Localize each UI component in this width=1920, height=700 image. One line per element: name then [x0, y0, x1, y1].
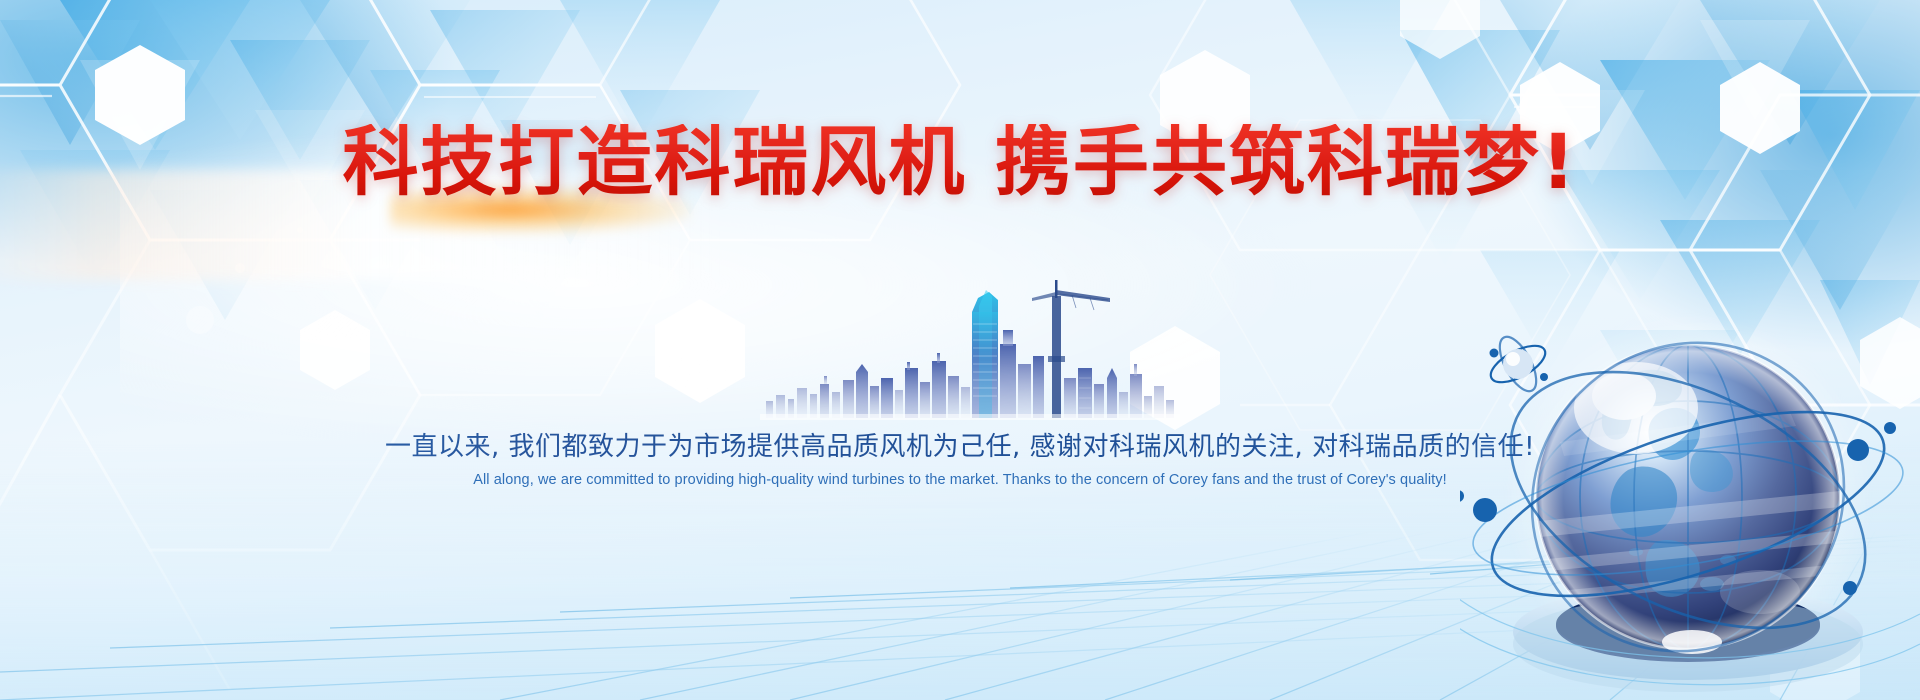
globe-icon	[1460, 292, 1920, 700]
city-skyline-icon	[760, 268, 1180, 420]
banner-root: 科技打造科瑞风机 携手共筑科瑞梦! 一直以来, 我们都致力于为市场提供高品质风机…	[0, 0, 1920, 700]
satellite-atom-icon	[1485, 331, 1550, 396]
sparkle-dots	[186, 227, 1827, 512]
page-title: 科技打造科瑞风机 携手共筑科瑞梦!	[0, 124, 1920, 200]
tech-background	[0, 0, 1920, 700]
hex-network-lines	[0, 0, 1920, 690]
subtitle-chinese: 一直以来, 我们都致力于为市场提供高品质风机为己任, 感谢对科瑞风机的关注, 对…	[0, 426, 1920, 463]
city-skyline-graphic	[760, 268, 1180, 420]
perspective-grid-floor	[0, 530, 1920, 700]
hexagon-network-icon	[0, 0, 1920, 700]
hex-nodes	[95, 0, 1920, 700]
subtitle-english: All along, we are committed to providing…	[0, 472, 1920, 488]
triangle-cluster-right	[1290, 0, 1920, 450]
globe-graphic	[1460, 292, 1920, 700]
orbit-rings	[1469, 292, 1907, 700]
